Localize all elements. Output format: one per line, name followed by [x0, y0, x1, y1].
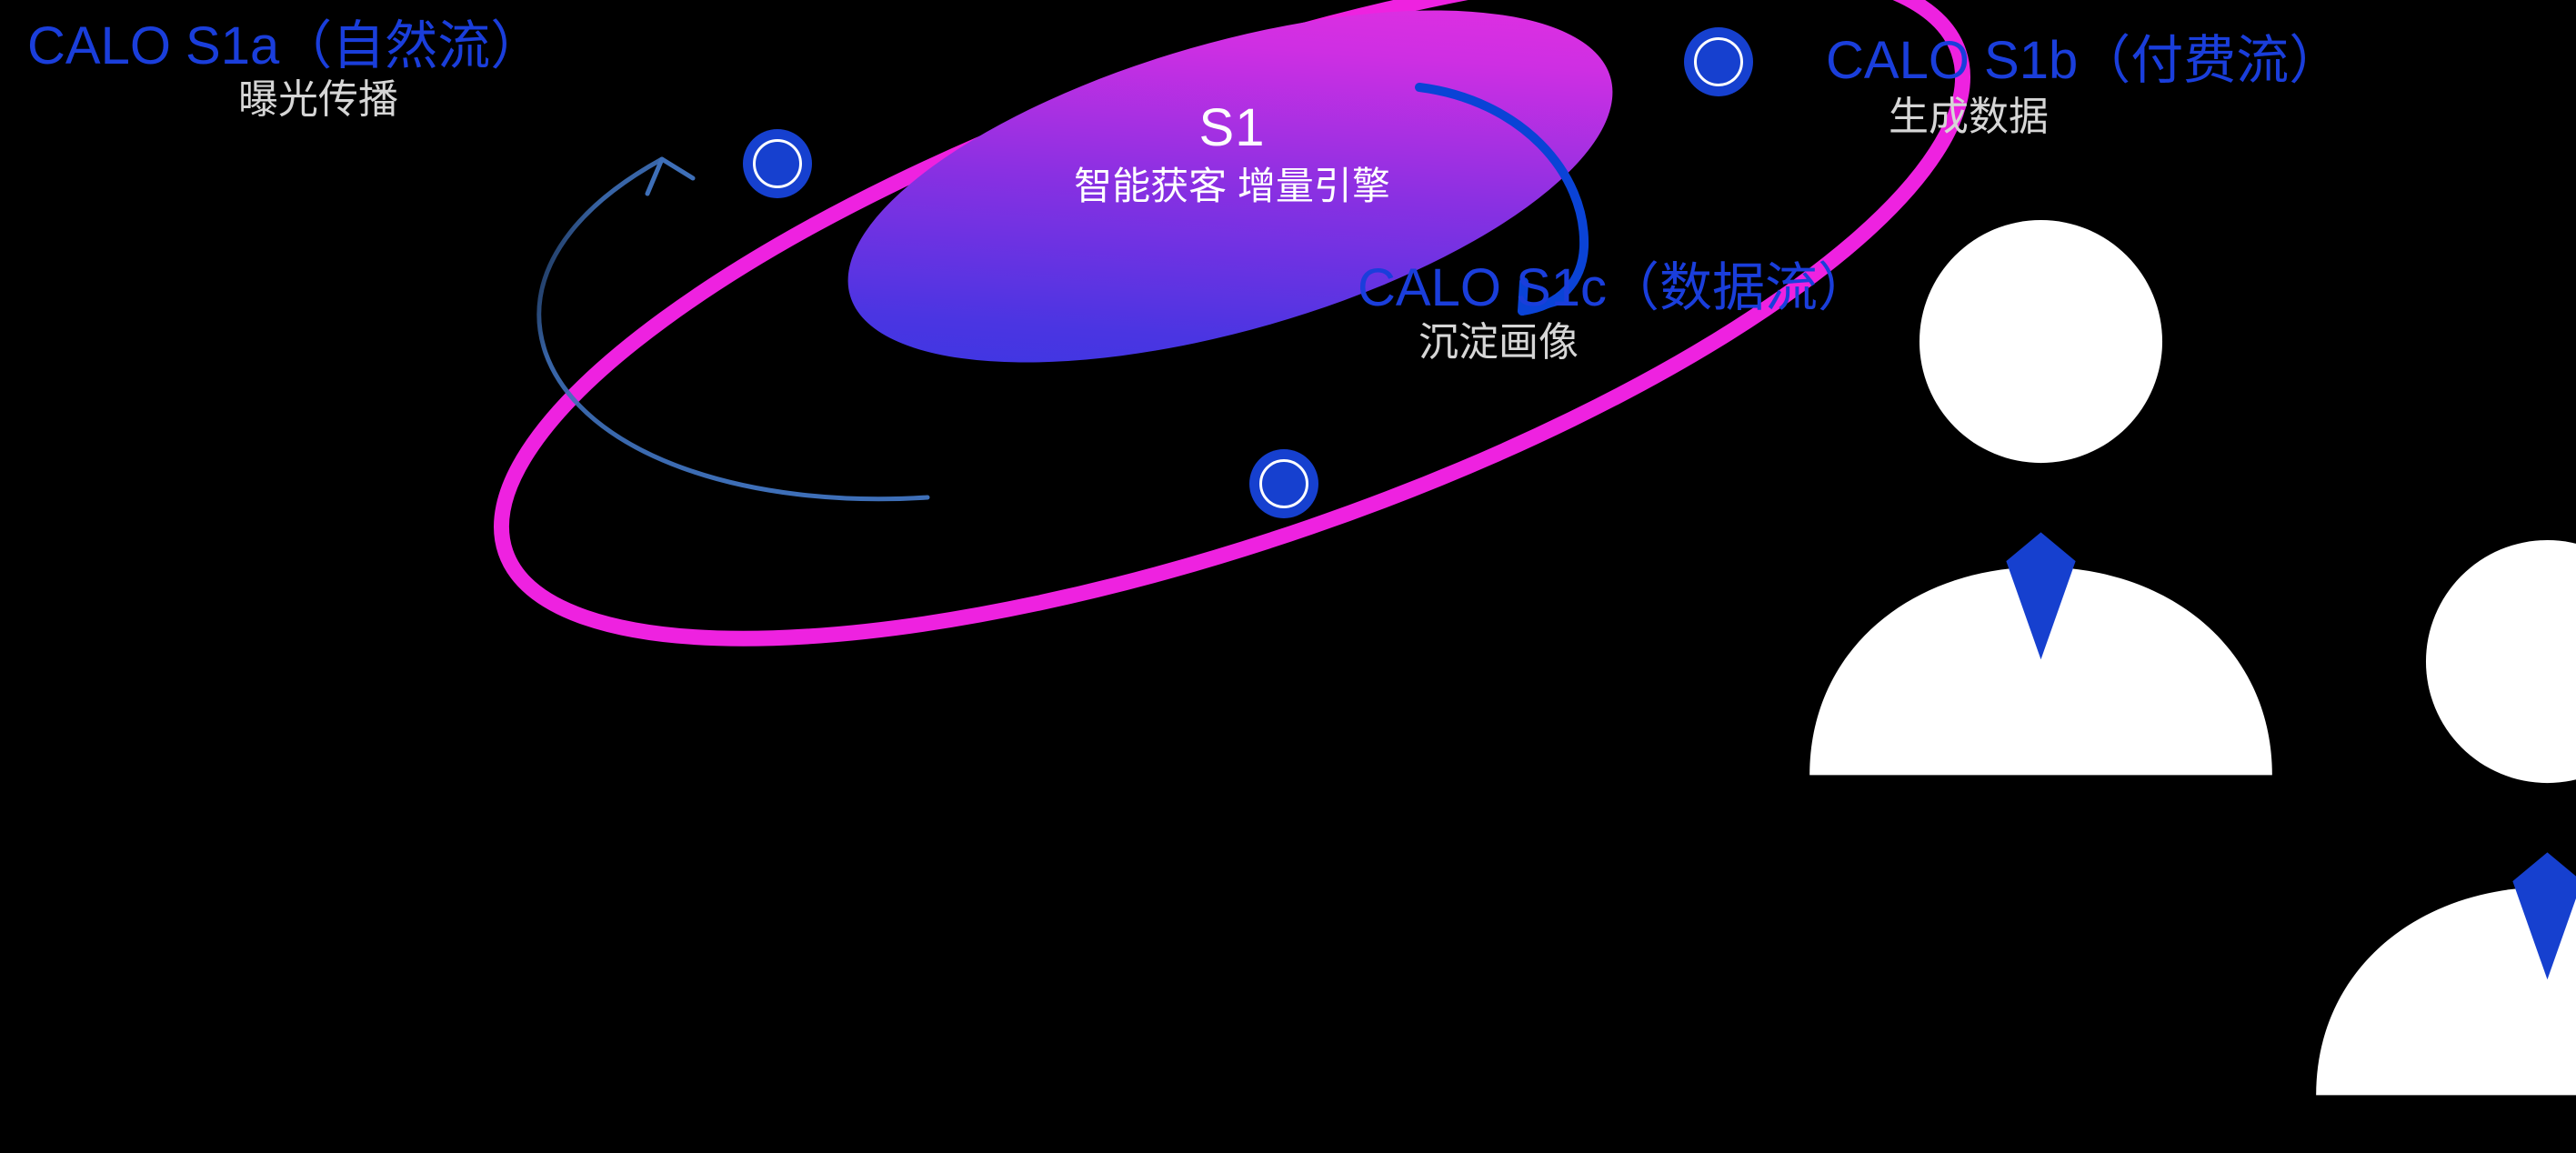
node-s1c-sublabel: 沉淀画像: [1418, 323, 1579, 363]
person-avatar-icon: [1694, 37, 1743, 86]
person-avatar-icon: [1259, 459, 1308, 508]
node-s1a-sublabel: 曝光传播: [238, 80, 398, 120]
node-s1a[interactable]: [743, 129, 812, 198]
node-s1b-sublabel: 生成数据: [1889, 97, 2049, 137]
node-s1c-title: CALO S1c（数据流）: [1358, 262, 1870, 315]
node-s1b[interactable]: [1684, 27, 1753, 96]
diagram-canvas: S1 智能获客 增量引擎 CALO S1a（自然流） 曝光传播 CALO S1b…: [0, 0, 2576, 694]
node-s1a-title: CALO S1a（自然流）: [27, 20, 543, 73]
node-s1c[interactable]: [1249, 449, 1318, 518]
node-s1b-title: CALO S1b（付费流）: [1826, 35, 2341, 87]
person-avatar-icon: [753, 139, 802, 188]
